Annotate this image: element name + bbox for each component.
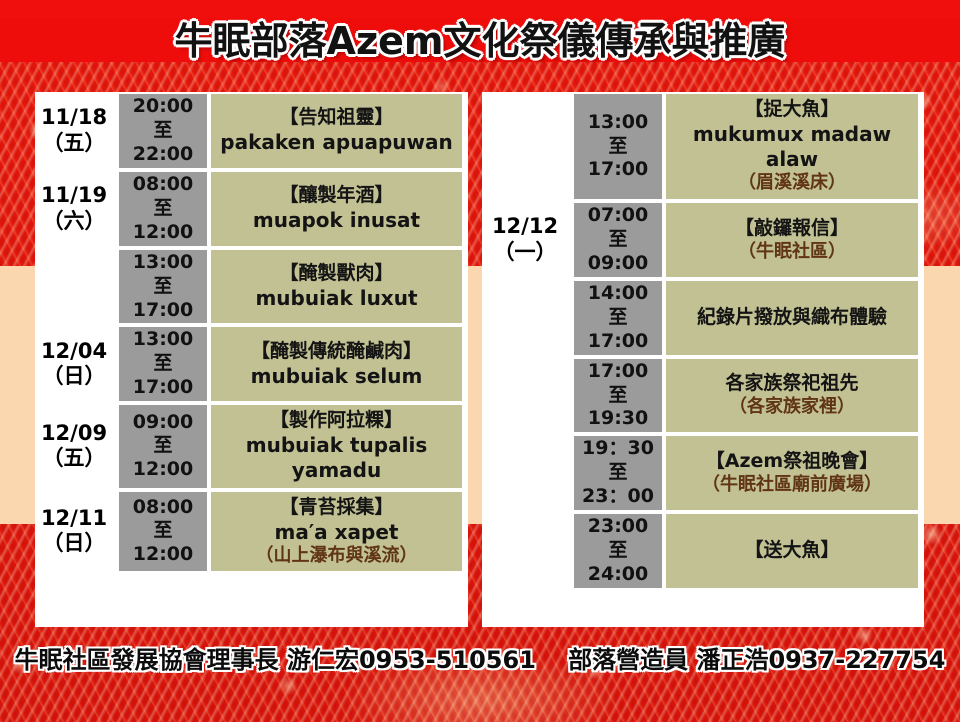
time-start: 19：30 xyxy=(575,437,661,461)
date-label: 12/09 xyxy=(35,421,113,447)
event-title-zh: 【捉大魚】 xyxy=(672,98,912,122)
table-row: 11/18 （五） 20:00 至 22:00 【告知祖靈】 pakaken a… xyxy=(35,92,468,170)
row-event-cell: 【製作阿拉粿】 mubuiak tupalis yamadu xyxy=(211,403,468,489)
time-start: 08:00 xyxy=(120,496,206,520)
row-date-cell xyxy=(482,512,570,590)
time-end: 19:30 xyxy=(575,407,661,431)
row-time-cell: 17:00 至 19:30 xyxy=(570,357,666,435)
row-event-cell: 【告知祖靈】 pakaken apuapuwan xyxy=(211,92,468,170)
time-separator: 至 xyxy=(575,306,661,330)
row-time-cell: 19：30 至 23：00 xyxy=(570,434,666,512)
row-time-cell: 08:00 至 12:00 xyxy=(115,490,211,574)
time-end: 17:00 xyxy=(120,376,206,400)
schedule-panel-right: 13:00 至 17:00 【捉大魚】 mukumux madaw alaw （… xyxy=(482,92,924,627)
table-row: 23:00 至 24:00 【送大魚】 xyxy=(482,512,924,590)
table-row: 13:00 至 17:00 【醃製獸肉】 mubuiak luxut xyxy=(35,248,468,326)
event-location: （牛眠社區） xyxy=(672,241,912,264)
row-date-cell: 12/09 （五） xyxy=(35,403,115,489)
time-end: 22:00 xyxy=(120,143,206,167)
event-title-rom: pakaken apuapuwan xyxy=(217,130,456,155)
weekday-label: （六） xyxy=(35,209,113,235)
row-time-cell: 08:00 至 12:00 xyxy=(115,170,211,248)
contact-chairman: 牛眠社區發展協會理事長 游仁宏0953-510561 xyxy=(15,646,536,674)
time-separator: 至 xyxy=(120,434,206,458)
date-label: 11/18 xyxy=(35,105,113,131)
time-start: 09:00 xyxy=(120,411,206,435)
time-separator: 至 xyxy=(575,461,661,485)
row-time-cell: 07:00 至 09:00 xyxy=(570,201,666,279)
row-event-cell: 【醃製獸肉】 mubuiak luxut xyxy=(211,248,468,326)
event-title-zh: 【Azem祭祖晚會】 xyxy=(672,450,912,474)
row-event-cell: 【送大魚】 xyxy=(666,512,924,590)
table-row: 14:00 至 17:00 紀錄片撥放與織布體驗 xyxy=(482,279,924,357)
weekday-label: （五） xyxy=(35,131,113,157)
table-row: 12/04 （日） 13:00 至 17:00 【醃製傳統醃鹹肉】 mubuia… xyxy=(35,325,468,403)
poster-root: 牛眠部落Azem文化祭儀傳承與推廣 11/18 （五） 20:00 至 22:0… xyxy=(0,0,960,722)
time-end: 17:00 xyxy=(575,158,661,182)
time-end: 09:00 xyxy=(575,252,661,276)
table-row: 13:00 至 17:00 【捉大魚】 mukumux madaw alaw （… xyxy=(482,92,924,201)
time-separator: 至 xyxy=(120,197,206,221)
date-label: 12/11 xyxy=(35,506,113,532)
table-row: 12/12 （一） 07:00 至 09:00 【敲鑼報信】 （牛眠社區） xyxy=(482,201,924,279)
time-end: 12:00 xyxy=(120,221,206,245)
event-location: （各家族家裡） xyxy=(672,396,912,419)
schedule-table-left: 11/18 （五） 20:00 至 22:00 【告知祖靈】 pakaken a… xyxy=(35,92,468,573)
row-date-cell: 11/18 （五） xyxy=(35,92,115,170)
row-event-cell: 【Azem祭祖晚會】 （牛眠社區廟前廣場） xyxy=(666,434,924,512)
time-start: 17:00 xyxy=(575,360,661,384)
time-separator: 至 xyxy=(575,135,661,159)
time-start: 13:00 xyxy=(120,251,206,275)
event-title-rom: mubuiak luxut xyxy=(217,286,456,311)
time-start: 07:00 xyxy=(575,204,661,228)
table-row: 17:00 至 19:30 各家族祭祀祖先 （各家族家裡） xyxy=(482,357,924,435)
row-date-cell xyxy=(482,279,570,357)
time-end: 12:00 xyxy=(120,543,206,567)
time-start: 13:00 xyxy=(575,111,661,135)
row-time-cell: 13:00 至 17:00 xyxy=(115,325,211,403)
event-title-rom: mubuiak tupalis yamadu xyxy=(217,433,456,483)
row-event-cell: 【青苔採集】 ma′a xapet （山上瀑布與溪流） xyxy=(211,490,468,574)
peach-band-middle xyxy=(468,266,482,524)
peach-band-left xyxy=(0,266,35,524)
event-title-rom: mubuiak selum xyxy=(217,364,456,389)
event-title-zh: 【敲鑼報信】 xyxy=(672,217,912,241)
event-title-zh: 【釀製年酒】 xyxy=(217,184,456,208)
event-title-zh: 【製作阿拉粿】 xyxy=(217,409,456,433)
title-area: 牛眠部落Azem文化祭儀傳承與推廣 xyxy=(0,22,960,60)
schedule-table-right: 13:00 至 17:00 【捉大魚】 mukumux madaw alaw （… xyxy=(482,92,924,590)
row-date-cell xyxy=(482,92,570,201)
time-separator: 至 xyxy=(575,228,661,252)
weekday-label: （日） xyxy=(35,531,113,557)
time-end: 17:00 xyxy=(575,330,661,354)
row-time-cell: 14:00 至 17:00 xyxy=(570,279,666,357)
row-date-cell: 11/19 （六） xyxy=(35,170,115,248)
event-title-zh: 各家族祭祀祖先 xyxy=(672,372,912,396)
event-location: （牛眠社區廟前廣場） xyxy=(672,474,912,497)
row-date-cell: 12/04 （日） xyxy=(35,325,115,403)
time-start: 08:00 xyxy=(120,173,206,197)
schedule-panel-left: 11/18 （五） 20:00 至 22:00 【告知祖靈】 pakaken a… xyxy=(35,92,468,627)
row-time-cell: 23:00 至 24:00 xyxy=(570,512,666,590)
table-row: 12/11 （日） 08:00 至 12:00 【青苔採集】 ma′a xape… xyxy=(35,490,468,574)
row-time-cell: 20:00 至 22:00 xyxy=(115,92,211,170)
time-end: 12:00 xyxy=(120,458,206,482)
row-event-cell: 各家族祭祀祖先 （各家族家裡） xyxy=(666,357,924,435)
page-title: 牛眠部落Azem文化祭儀傳承與推廣 xyxy=(175,22,786,60)
time-end: 23：00 xyxy=(575,485,661,509)
time-separator: 至 xyxy=(120,519,206,543)
event-title-zh: 【醃製傳統醃鹹肉】 xyxy=(217,340,456,364)
row-event-cell: 【捉大魚】 mukumux madaw alaw （眉溪溪床） xyxy=(666,92,924,201)
row-date-cell: 12/12 （一） xyxy=(482,201,570,279)
time-start: 13:00 xyxy=(120,328,206,352)
row-date-cell xyxy=(35,248,115,326)
row-time-cell: 09:00 至 12:00 xyxy=(115,403,211,489)
event-location: （眉溪溪床） xyxy=(672,172,912,195)
event-title-rom: ma′a xapet xyxy=(217,520,456,545)
row-date-cell xyxy=(482,434,570,512)
event-title-zh: 【青苔採集】 xyxy=(217,496,456,520)
event-location: （山上瀑布與溪流） xyxy=(217,545,456,568)
time-end: 24:00 xyxy=(575,563,661,587)
row-date-cell xyxy=(482,357,570,435)
row-date-cell: 12/11 （日） xyxy=(35,490,115,574)
row-event-cell: 【醃製傳統醃鹹肉】 mubuiak selum xyxy=(211,325,468,403)
table-row: 19：30 至 23：00 【Azem祭祖晚會】 （牛眠社區廟前廣場） xyxy=(482,434,924,512)
event-title-zh: 【告知祖靈】 xyxy=(217,106,456,130)
weekday-label: （五） xyxy=(35,446,113,472)
event-title-rom: muapok inusat xyxy=(217,208,456,233)
row-event-cell: 【釀製年酒】 muapok inusat xyxy=(211,170,468,248)
weekday-label: （日） xyxy=(35,364,113,390)
top-red-band-edge xyxy=(0,0,960,18)
table-row: 11/19 （六） 08:00 至 12:00 【釀製年酒】 muapok in… xyxy=(35,170,468,248)
event-title-rom: mukumux madaw alaw xyxy=(672,122,912,172)
date-label: 12/12 xyxy=(482,214,568,240)
weekday-label: （一） xyxy=(482,240,568,266)
time-separator: 至 xyxy=(120,119,206,143)
row-time-cell: 13:00 至 17:00 xyxy=(115,248,211,326)
time-start: 20:00 xyxy=(120,95,206,119)
time-start: 14:00 xyxy=(575,282,661,306)
row-event-cell: 紀錄片撥放與織布體驗 xyxy=(666,279,924,357)
time-separator: 至 xyxy=(120,352,206,376)
row-event-cell: 【敲鑼報信】 （牛眠社區） xyxy=(666,201,924,279)
peach-band-right xyxy=(924,266,960,524)
time-start: 23:00 xyxy=(575,515,661,539)
time-separator: 至 xyxy=(120,275,206,299)
table-row: 12/09 （五） 09:00 至 12:00 【製作阿拉粿】 mubuiak … xyxy=(35,403,468,489)
date-label: 12/04 xyxy=(35,339,113,365)
time-end: 17:00 xyxy=(120,299,206,323)
date-label: 11/19 xyxy=(35,183,113,209)
footer-contacts: 牛眠社區發展協會理事長 游仁宏0953-510561 部落營造員 潘正浩0937… xyxy=(0,640,960,675)
event-title-zh: 【送大魚】 xyxy=(672,539,912,563)
contact-organizer: 部落營造員 潘正浩0937-227754 xyxy=(568,646,945,674)
event-title-zh: 紀錄片撥放與織布體驗 xyxy=(672,306,912,330)
row-time-cell: 13:00 至 17:00 xyxy=(570,92,666,201)
event-title-zh: 【醃製獸肉】 xyxy=(217,262,456,286)
time-separator: 至 xyxy=(575,539,661,563)
time-separator: 至 xyxy=(575,384,661,408)
